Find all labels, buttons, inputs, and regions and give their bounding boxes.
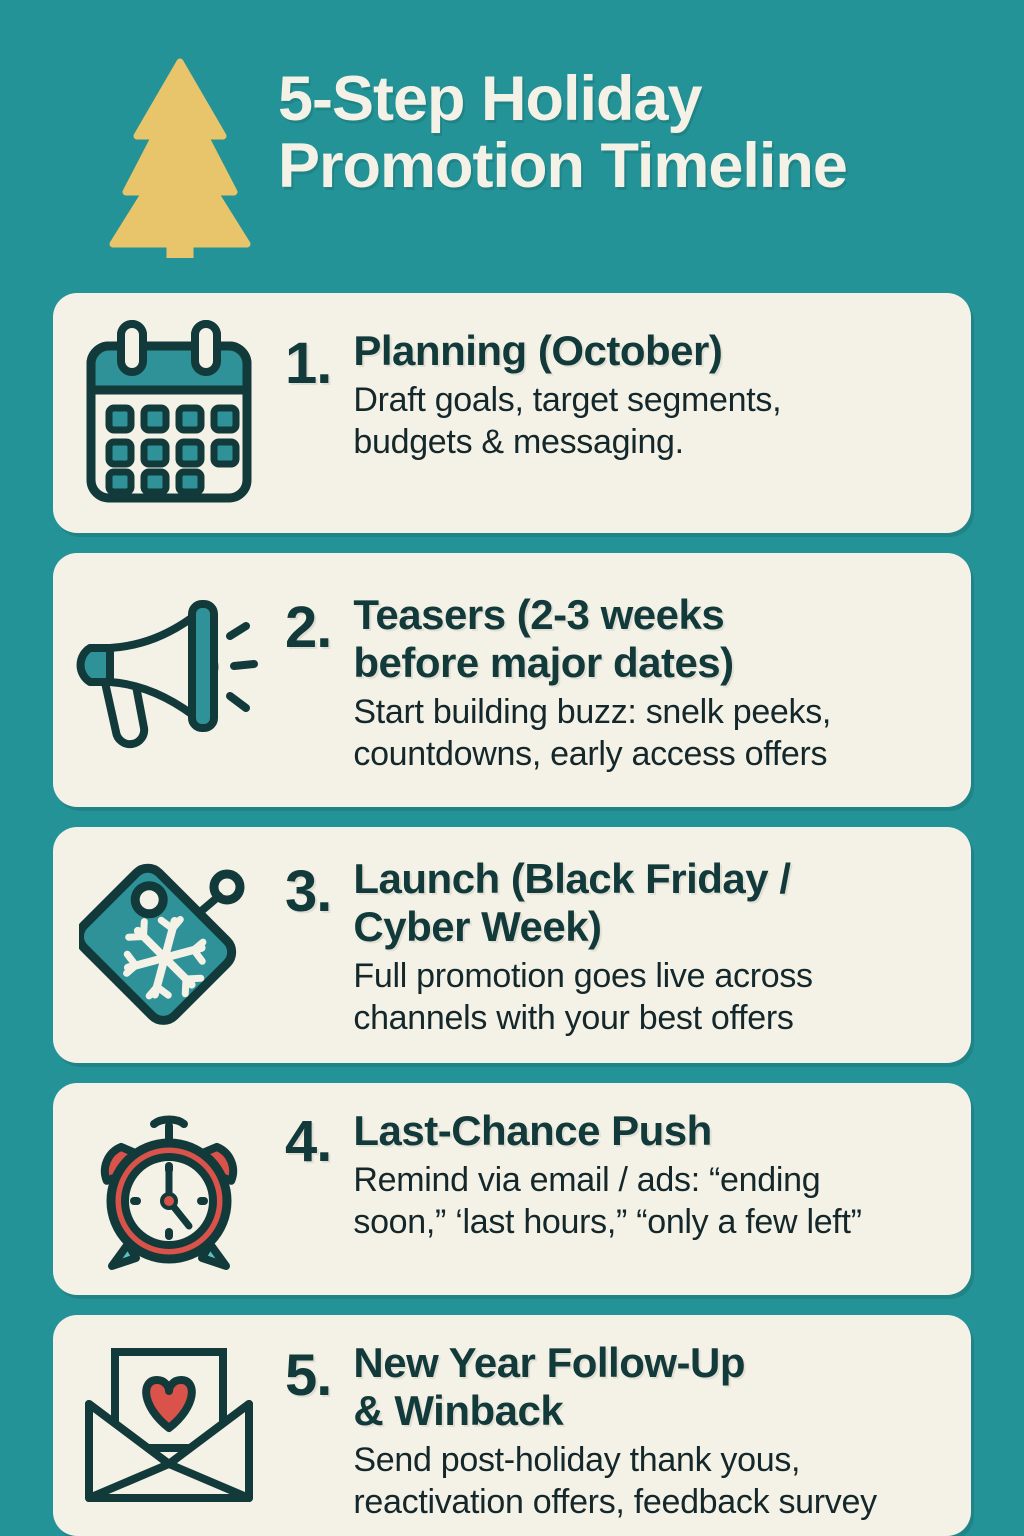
step-desc-5: Send post-holiday thank yous, reactivati… (353, 1439, 957, 1523)
step-title-4: Last-Chance Push (353, 1107, 957, 1155)
step-card-5[interactable]: 5. New Year Follow-Up & Winback Send pos… (53, 1315, 971, 1536)
step-desc-3-line-1: Full promotion goes live across (353, 955, 957, 997)
infographic-header: 5-Step Holiday Promotion Timeline (0, 0, 1024, 293)
step-title-3-line-2: Cyber Week) (353, 903, 957, 951)
step-desc-5-line-2: reactivation offers, feedback survey (353, 1481, 957, 1523)
step-text-2: Teasers (2-3 weeks before major dates) S… (331, 553, 971, 775)
step-desc-4: Remind via email / ads: “ending soon,” ‘… (353, 1159, 957, 1243)
page-title: 5-Step Holiday Promotion Timeline (278, 66, 988, 201)
title-line-1: 5-Step Holiday (278, 66, 988, 133)
step-title-2: Teasers (2-3 weeks before major dates) (353, 591, 957, 687)
step-card-2[interactable]: 2. Teasers (2-3 weeks before major dates… (53, 553, 971, 807)
step-desc-5-line-1: Send post-holiday thank yous, (353, 1439, 957, 1481)
step-title-3: Launch (Black Friday / Cyber Week) (353, 855, 957, 951)
step-text-1: Planning (October) Draft goals, target s… (331, 293, 971, 463)
christmas-tree-icon (95, 58, 265, 258)
step-text-3: Launch (Black Friday / Cyber Week) Full … (331, 827, 971, 1039)
step-number-3: 3. (285, 827, 331, 921)
step-number-2: 2. (285, 553, 331, 657)
price-tag-snowflake-icon (53, 827, 285, 1063)
step-title-3-line-1: Launch (Black Friday / (353, 855, 957, 903)
step-desc-1: Draft goals, target segments, budgets & … (353, 379, 957, 463)
step-text-5: New Year Follow-Up & Winback Send post-h… (331, 1315, 971, 1523)
step-title-5-line-1: New Year Follow-Up (353, 1339, 957, 1387)
step-title-2-line-1: Teasers (2-3 weeks (353, 591, 957, 639)
step-card-4[interactable]: 4. Last-Chance Push Remind via email / a… (53, 1083, 971, 1295)
step-text-4: Last-Chance Push Remind via email / ads:… (331, 1083, 971, 1243)
step-desc-4-line-2: soon,” ‘last hours,” “only a few left” (353, 1201, 957, 1243)
step-desc-1-line-2: budgets & messaging. (353, 421, 957, 463)
envelope-heart-icon (53, 1315, 285, 1536)
step-desc-1-line-1: Draft goals, target segments, (353, 379, 957, 421)
title-line-2: Promotion Timeline (278, 133, 988, 200)
step-card-3[interactable]: 3. Launch (Black Friday / Cyber Week) Fu… (53, 827, 971, 1063)
calendar-icon (53, 293, 285, 533)
step-number-4: 4. (285, 1083, 331, 1171)
alarm-clock-icon (53, 1083, 285, 1295)
step-desc-2-line-1: Start building buzz: snelk peeks, (353, 691, 957, 733)
step-title-5: New Year Follow-Up & Winback (353, 1339, 957, 1435)
step-desc-2-line-2: countdowns, early access offers (353, 733, 957, 775)
step-card-1[interactable]: 1. Planning (October) Draft goals, targe… (53, 293, 971, 533)
step-title-1: Planning (October) (353, 327, 957, 375)
step-title-5-line-2: & Winback (353, 1387, 957, 1435)
megaphone-icon (53, 553, 285, 807)
step-number-1: 1. (285, 293, 331, 393)
step-desc-3: Full promotion goes live across channels… (353, 955, 957, 1039)
step-number-5: 5. (285, 1315, 331, 1405)
step-title-2-line-2: before major dates) (353, 639, 957, 687)
step-desc-4-line-1: Remind via email / ads: “ending (353, 1159, 957, 1201)
step-desc-3-line-2: channels with your best offers (353, 997, 957, 1039)
step-desc-2: Start building buzz: snelk peeks, countd… (353, 691, 957, 775)
